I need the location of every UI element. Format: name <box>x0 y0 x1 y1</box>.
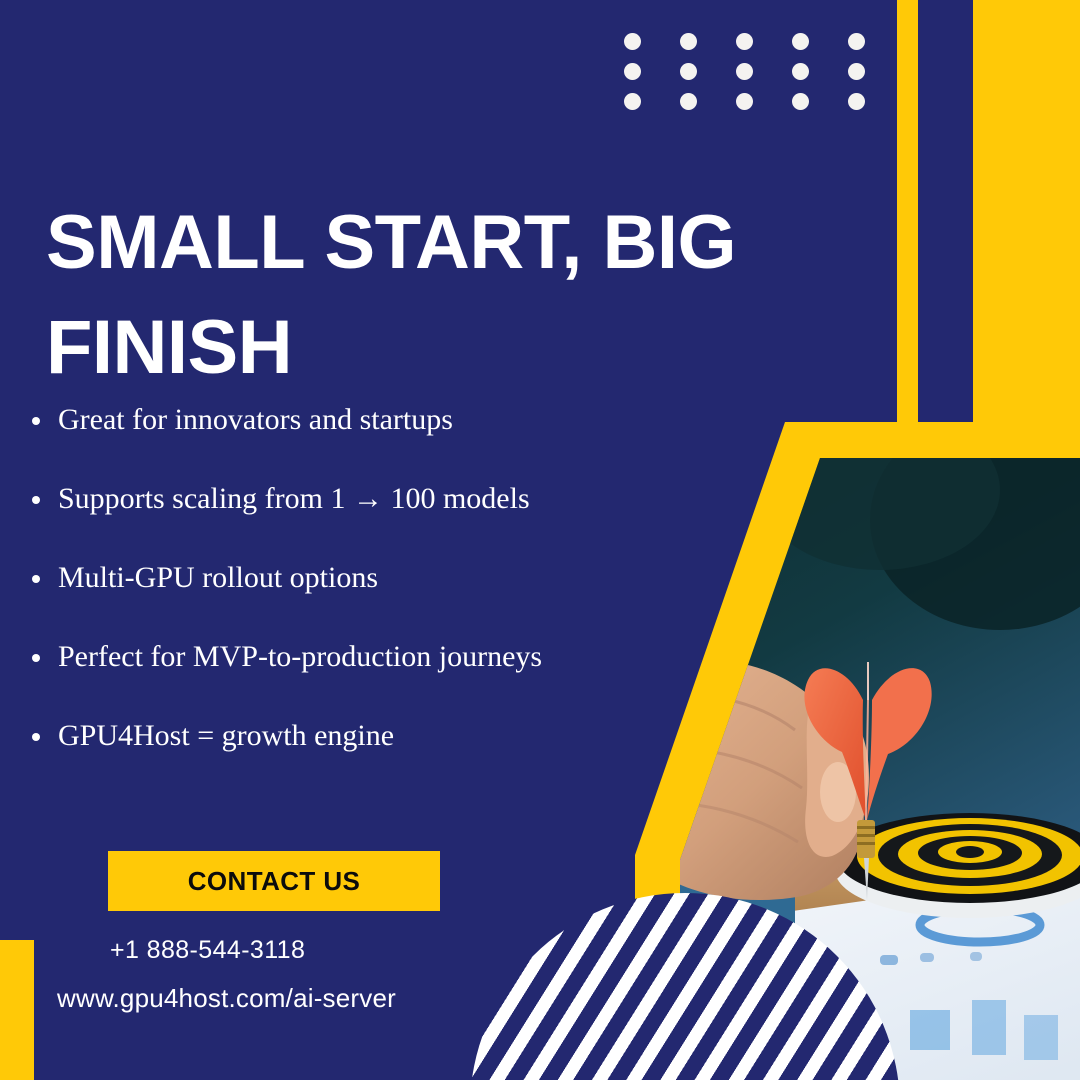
dot <box>736 93 753 110</box>
dot <box>848 63 865 80</box>
bullet-dot-icon <box>32 496 40 504</box>
dot <box>848 33 865 50</box>
list-item: Great for innovators and startups <box>24 405 664 435</box>
list-item: Multi-GPU rollout options <box>24 563 664 593</box>
dot-grid-icon <box>624 26 904 116</box>
yellow-vertical-band-wide <box>973 0 1080 423</box>
list-item: Supports scaling from 1 → 100 models <box>24 484 664 514</box>
contact-us-button[interactable]: CONTACT US <box>108 851 440 911</box>
list-item-label: Supports scaling from 1 → 100 models <box>58 482 530 515</box>
feature-list: Great for innovators and startups Suppor… <box>24 405 664 751</box>
dot <box>736 33 753 50</box>
dot <box>624 63 641 80</box>
dot <box>792 63 809 80</box>
bullet-dot-icon <box>32 575 40 583</box>
poster-canvas: SMALL START, BIG FINISH Great for innova… <box>0 0 1080 1080</box>
bullet-dot-icon <box>32 654 40 662</box>
dot <box>680 33 697 50</box>
dot <box>680 63 697 80</box>
yellow-corner-block-icon <box>0 940 34 1080</box>
contact-info: +1 888-544-3118 www.gpu4host.com/ai-serv… <box>110 938 396 1011</box>
list-item: GPU4Host = growth engine <box>24 721 664 751</box>
dot <box>848 93 865 110</box>
dot <box>792 93 809 110</box>
bullet-dot-icon <box>32 417 40 425</box>
dot <box>624 33 641 50</box>
bullet-dot-icon <box>32 733 40 741</box>
dot <box>624 93 641 110</box>
dot <box>792 33 809 50</box>
list-item-label: GPU4Host = growth engine <box>58 719 394 752</box>
phone-number[interactable]: +1 888-544-3118 <box>110 938 396 963</box>
dot <box>736 63 753 80</box>
dot <box>680 93 697 110</box>
list-item-label: Perfect for MVP-to-production journeys <box>58 640 542 673</box>
list-item-label: Great for innovators and startups <box>58 403 453 436</box>
list-item: Perfect for MVP-to-production journeys <box>24 642 664 672</box>
website-url[interactable]: www.gpu4host.com/ai-server <box>57 985 396 1011</box>
list-item-label: Multi-GPU rollout options <box>58 561 378 594</box>
page-title: SMALL START, BIG FINISH <box>46 191 856 401</box>
